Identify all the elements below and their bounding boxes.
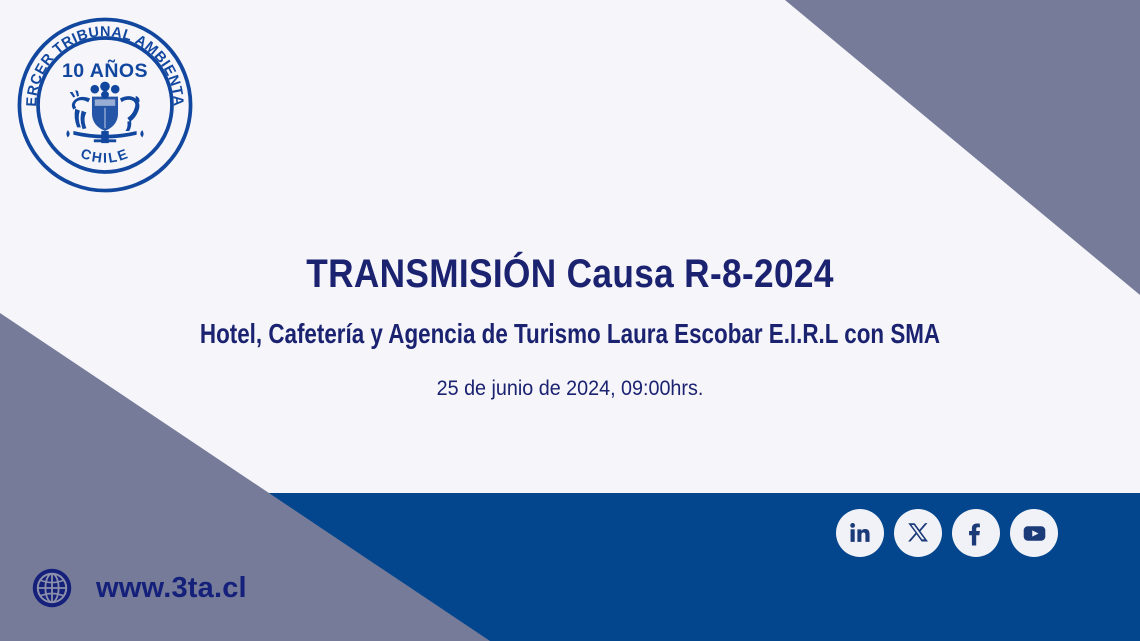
website-url[interactable]: www.3ta.cl <box>96 574 247 603</box>
website-footer[interactable]: www.3ta.cl <box>30 566 247 610</box>
youtube-icon <box>1021 520 1048 547</box>
page-title: TRANSMISIÓN Causa R-8-2024 <box>68 252 1071 296</box>
linkedin-button[interactable] <box>836 509 884 557</box>
linkedin-icon <box>847 520 873 546</box>
facebook-button[interactable] <box>952 509 1000 557</box>
x-twitter-icon <box>906 521 931 546</box>
social-media-bar <box>836 509 1058 557</box>
globe-icon <box>30 566 74 610</box>
coat-of-arms-emblem <box>66 82 143 144</box>
session-datetime: 25 de junio de 2024, 09:00hrs. <box>34 376 1106 401</box>
institution-logo: TERCER TRIBUNAL AMBIENTAL CHILE 10 AÑOS <box>12 12 198 198</box>
transmission-slide: TERCER TRIBUNAL AMBIENTAL CHILE 10 AÑOS <box>0 0 1140 641</box>
logo-anniversary-text: 10 AÑOS <box>62 59 148 82</box>
logo-bottom-text: CHILE <box>79 145 132 166</box>
case-subtitle: Hotel, Cafetería y Agencia de Turismo La… <box>114 318 1026 350</box>
main-text-block: TRANSMISIÓN Causa R-8-2024 Hotel, Cafete… <box>0 252 1140 401</box>
x-twitter-button[interactable] <box>894 509 942 557</box>
facebook-icon <box>963 520 989 546</box>
youtube-button[interactable] <box>1010 509 1058 557</box>
